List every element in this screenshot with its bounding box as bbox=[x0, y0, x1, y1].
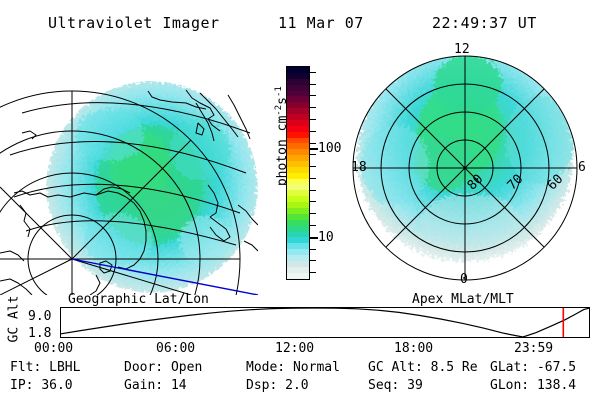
status-field-label: Dsp: bbox=[246, 378, 285, 393]
status-field: Flt: LBHL bbox=[10, 360, 80, 375]
colorbar-tick-label: 100 bbox=[318, 142, 341, 155]
time-tick-0000: 00:00 bbox=[34, 342, 73, 355]
colorbar-major-tick bbox=[310, 237, 318, 239]
colorbar-minor-tick bbox=[310, 154, 316, 155]
colorbar-minor-tick bbox=[310, 166, 316, 167]
colorbar-minor-tick bbox=[310, 178, 316, 179]
colorbar-minor-tick bbox=[310, 225, 316, 226]
status-field-label: Door: bbox=[124, 360, 171, 375]
status-panel: Flt: LBHLDoor: OpenMode: NormalGC Alt: 8… bbox=[0, 360, 600, 400]
status-field-value: 39 bbox=[407, 378, 423, 393]
magnetic-polar-plot[interactable]: 60 70 80 12 18 6 0 bbox=[350, 45, 600, 295]
colorbar-minor-tick bbox=[310, 131, 316, 132]
colorbar-minor-tick bbox=[310, 119, 316, 120]
gcalt-tick-max: 9.0 bbox=[28, 310, 51, 323]
colorbar-minor-tick bbox=[310, 84, 316, 85]
magnetic-plot-svg: 60 70 80 bbox=[350, 45, 600, 295]
observation-date: 11 Mar 07 bbox=[278, 14, 364, 32]
colorbar-minor-tick bbox=[310, 272, 316, 273]
colorbar-segment bbox=[287, 273, 309, 279]
time-tick-2359: 23:59 bbox=[514, 342, 553, 355]
time-tick-1800: 18:00 bbox=[394, 342, 433, 355]
status-field: IP: 36.0 bbox=[10, 378, 73, 393]
geographic-panel-subtitle: Geographic Lat/Lon bbox=[68, 292, 209, 307]
status-field: GLat: -67.5 bbox=[490, 360, 576, 375]
status-field-label: IP: bbox=[10, 378, 41, 393]
status-field-label: Mode: bbox=[246, 360, 293, 375]
status-row-1: Flt: LBHLDoor: OpenMode: NormalGC Alt: 8… bbox=[0, 360, 600, 378]
status-field: GC Alt: 8.5 Re bbox=[368, 360, 478, 375]
mlt-label-18: 18 bbox=[351, 161, 367, 174]
status-row-2: IP: 36.0Gain: 14Dsp: 2.0Seq: 39GLon: 138… bbox=[0, 378, 600, 396]
status-field-label: Flt: bbox=[10, 360, 49, 375]
status-field-value: 14 bbox=[171, 378, 187, 393]
colorbar-gradient bbox=[286, 66, 310, 280]
colorbar-minor-tick bbox=[310, 213, 316, 214]
status-field: Mode: Normal bbox=[246, 360, 340, 375]
status-field: Seq: 39 bbox=[368, 378, 423, 393]
status-field-label: GLon: bbox=[490, 378, 537, 393]
status-field-label: GC Alt: bbox=[368, 360, 431, 375]
header-bar: Ultraviolet Imager 11 Mar 07 22:49:37 UT bbox=[0, 6, 600, 32]
observation-time: 22:49:37 UT bbox=[432, 14, 537, 32]
timeline-frame bbox=[61, 308, 590, 338]
geographic-plot-svg bbox=[0, 45, 258, 295]
status-field: GLon: 138.4 bbox=[490, 378, 576, 393]
geographic-polar-plot[interactable] bbox=[0, 45, 258, 295]
status-field-value: LBHL bbox=[49, 360, 80, 375]
status-field-value: 36.0 bbox=[41, 378, 72, 393]
colorbar-panel: photon cm-2s-1 10010 bbox=[258, 52, 350, 292]
time-tick-1200: 12:00 bbox=[275, 342, 314, 355]
colorbar-tick-label: 10 bbox=[318, 231, 334, 244]
status-field-label: Seq: bbox=[368, 378, 407, 393]
instrument-title: Ultraviolet Imager bbox=[48, 14, 220, 32]
status-field-label: GLat: bbox=[490, 360, 537, 375]
mlt-label-12: 12 bbox=[454, 43, 470, 56]
mlt-spokes bbox=[353, 56, 577, 280]
magnetic-panel-subtitle: Apex MLat/MLT bbox=[412, 292, 514, 307]
colorbar-minor-tick bbox=[310, 249, 316, 250]
colorbar-minor-tick bbox=[310, 190, 316, 191]
colorbar-minor-tick bbox=[310, 201, 316, 202]
status-field-value: 138.4 bbox=[537, 378, 576, 393]
mlt-label-0: 0 bbox=[460, 273, 468, 286]
time-tick-0600: 06:00 bbox=[156, 342, 195, 355]
status-field-value: Open bbox=[171, 360, 202, 375]
status-field: Gain: 14 bbox=[124, 378, 187, 393]
status-field-label: Gain: bbox=[124, 378, 171, 393]
mlt-label-6: 6 bbox=[578, 161, 586, 174]
status-field-value: Normal bbox=[293, 360, 340, 375]
status-field-value: 2.0 bbox=[285, 378, 308, 393]
colorbar-minor-tick bbox=[310, 260, 316, 261]
timeline-svg bbox=[60, 307, 590, 338]
status-field: Dsp: 2.0 bbox=[246, 378, 309, 393]
colorbar-major-tick bbox=[310, 148, 318, 150]
colorbar-minor-tick bbox=[310, 107, 316, 108]
gcalt-tick-min: 1.8 bbox=[28, 327, 51, 340]
colorbar-minor-tick bbox=[310, 143, 316, 144]
orbit-altitude-timeline[interactable] bbox=[60, 307, 530, 338]
gcalt-axis-label: GC Alt bbox=[6, 298, 22, 344]
status-field: Door: Open bbox=[124, 360, 202, 375]
status-field-value: 8.5 Re bbox=[431, 360, 478, 375]
orbit-altitude-curve bbox=[61, 308, 589, 337]
colorbar-minor-tick bbox=[310, 95, 316, 96]
colorbar-minor-tick bbox=[310, 72, 316, 73]
status-field-value: -67.5 bbox=[537, 360, 576, 375]
